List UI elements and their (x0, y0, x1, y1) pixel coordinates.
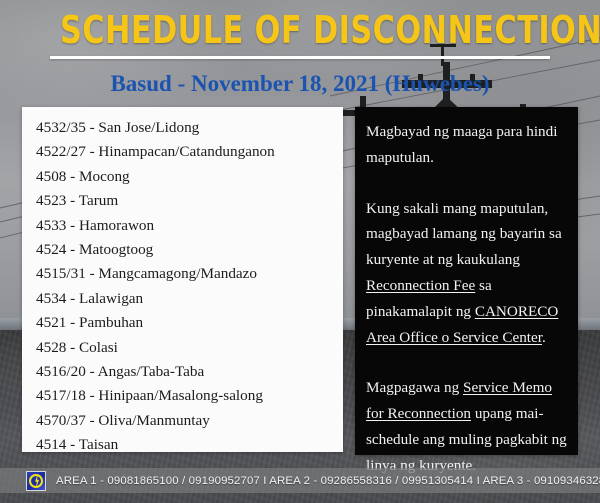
notice-paragraph-2: Kung sakali mang maputulan, magbayad lam… (366, 196, 567, 351)
schedule-list-panel: 4532/35 - San Jose/Lidong4522/27 - Hinam… (22, 107, 343, 452)
schedule-list: 4532/35 - San Jose/Lidong4522/27 - Hinam… (36, 116, 343, 458)
list-item: 4523 - Tarum (36, 189, 343, 213)
list-item: 4528 - Colasi (36, 336, 343, 360)
list-item: 4570/37 - Oliva/Manmuntay (36, 409, 343, 433)
notice-emphasis-reconnection-fee: Reconnection Fee (366, 277, 475, 294)
notice-paragraph-1: Magbayad ng maaga para hindi maputulan. (366, 119, 567, 171)
title-divider (50, 56, 550, 59)
notice-p3-lead: Magpagawa ng (366, 379, 463, 396)
list-item: 4514 - Taisan (36, 433, 343, 457)
list-item: 4515/31 - Mangcamagong/Mandazo (36, 262, 343, 286)
notice-paragraph-3: Magpagawa ng Service Memo for Reconnecti… (366, 375, 567, 478)
list-item: 4534 - Lalawigan (36, 287, 343, 311)
list-item: 4508 - Mocong (36, 165, 343, 189)
footer-contact-bar: AREA 1 - 09081865100 / 09190952707 I ARE… (0, 468, 600, 493)
list-item: 4533 - Hamorawon (36, 214, 343, 238)
list-item: 4532/35 - San Jose/Lidong (36, 116, 343, 140)
footer-contact-numbers: AREA 1 - 09081865100 / 09190952707 I ARE… (56, 475, 600, 487)
list-item: 4524 - Matoogtoog (36, 238, 343, 262)
list-item: 4522/27 - Hinampacan/Catandunganon (36, 140, 343, 164)
page-subtitle: Basud - November 18, 2021 (Huwebes) (0, 70, 600, 98)
notice-p2-lead: Kung sakali mang maputulan, magbayad lam… (366, 200, 562, 269)
notice-p2-tail: . (542, 329, 546, 346)
list-item: 4517/18 - Hinipaan/Masalong-salong (36, 384, 343, 408)
canoreco-logo-icon (26, 471, 46, 491)
disconnection-notice-poster: SCHEDULE OF DISCONNECTION Basud - Novemb… (0, 0, 600, 503)
list-item: 4516/20 - Angas/Taba-Taba (36, 360, 343, 384)
list-item: 4521 - Pambuhan (36, 311, 343, 335)
page-title: SCHEDULE OF DISCONNECTION (60, 9, 540, 51)
notice-panel: Magbayad ng maaga para hindi maputulan. … (355, 107, 578, 455)
